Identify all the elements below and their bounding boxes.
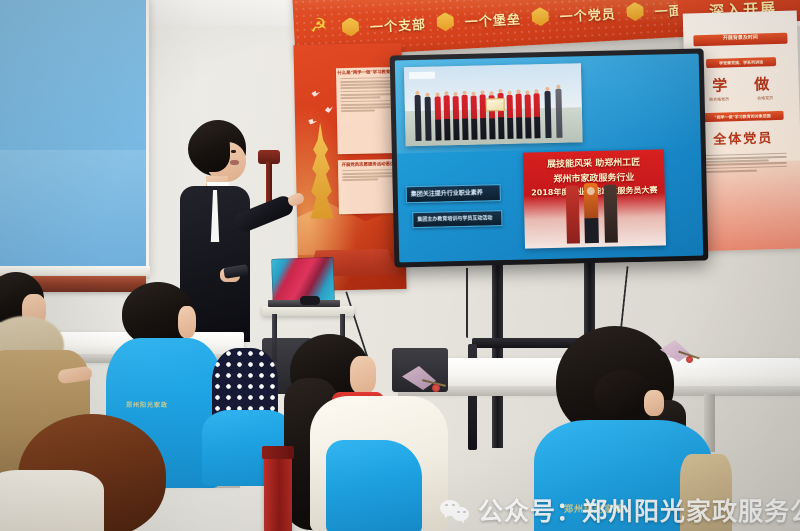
- poster-right-bar-1: 开展背景及时间: [693, 33, 787, 47]
- attendee-face: [350, 356, 376, 394]
- tv-stand-pole-left: [492, 258, 503, 448]
- slide-caption-1: 集团关注提升行业职业素养: [407, 185, 500, 202]
- banner-diamond-icon: [531, 7, 549, 27]
- poster-right-body: [697, 151, 792, 175]
- banner-cell-1: 一个堡垒: [464, 8, 521, 30]
- poster-right-sub-right: 合格党员: [745, 95, 785, 102]
- rose-bud: [432, 384, 440, 392]
- watermark-text: 公众号：郑州阳光家政服务公司: [478, 492, 800, 528]
- poster-right-big-right: 做: [750, 73, 773, 95]
- speaker-eye: [231, 150, 236, 153]
- attendee-red-hair-coat: [0, 470, 104, 531]
- competition-stage-photo: 展技能风采 助郑州工匠 郑州市家政服务行业 2018年度职业技能家政服务员大赛: [523, 149, 666, 248]
- award-plaque: [486, 98, 505, 111]
- rose-bud: [686, 356, 693, 363]
- banner-cell-0: 一个支部: [369, 13, 426, 35]
- wall-mounted-television[interactable]: 集团关注提升行业职业素养 集团主办教育培训与学员互动活动 展技能风采 助郑州工匠…: [390, 48, 709, 267]
- wechat-icon: [440, 498, 470, 523]
- blue-vest: [326, 440, 422, 531]
- poster-right-big-center: 全体党员: [700, 127, 786, 148]
- tv-screen: 集团关注提升行业职业素养 集团主办教育培训与学员互动活动 展技能风采 助郑州工匠…: [395, 54, 704, 263]
- photo-logo: [409, 72, 435, 80]
- attendee-hair-bun: [594, 370, 652, 418]
- slide-caption-2: 集团主办教育培训与学员互动活动: [413, 211, 501, 227]
- banner-diamond-icon: [626, 2, 644, 22]
- poster-right-sub-left: 做合格党员: [701, 96, 737, 103]
- poster-right-big-left: 学: [708, 74, 731, 96]
- poster-right-bar-2: "两学一做"学习教育的对象范围: [701, 111, 783, 122]
- banner-cell-2: 一个党员: [559, 3, 616, 25]
- poster-text-card-top: 什么是"两学一做"学习教育？: [336, 67, 398, 154]
- rose-wrapper: [402, 366, 436, 390]
- thermos-cap[interactable]: [262, 446, 294, 459]
- speaker-hair-front: [188, 126, 230, 172]
- laptop-mouse[interactable]: [300, 296, 320, 305]
- wrapped-rose[interactable]: [402, 366, 448, 398]
- stage-banner-line-1: 展技能风采 助郑州工匠: [523, 154, 664, 170]
- poster-right-tag-1: 学党章党规、学系列讲话: [706, 57, 776, 68]
- wechat-watermark: 公众号：郑州阳光家政服务公司: [440, 492, 800, 528]
- banner-diamond-icon: [436, 12, 454, 32]
- banner-diamond-icon: [341, 17, 359, 37]
- blue-wall-board-lower: [0, 150, 146, 270]
- vest-logo-text: 郑州阳光家政: [126, 400, 168, 409]
- poster-left-section-heading: 开展党员志愿服务活动倡议: [338, 159, 398, 168]
- wrapped-rose[interactable]: [660, 340, 700, 366]
- attendee-ear: [644, 390, 664, 416]
- red-thermos[interactable]: [264, 450, 292, 531]
- screenshot-root: ☭ 一个支部 一个堡垒 一个党员 一面旗帜 什么是"两学一做"学习教育？: [0, 0, 800, 531]
- slide-caption-box-2: 集团主办教育培训与学员互动活动: [412, 210, 502, 228]
- slide-caption-box-1: 集团关注提升行业职业素养: [406, 184, 501, 203]
- poster-left-heading: 什么是"两学一做"学习教育？: [336, 67, 396, 76]
- tv-cable-left: [466, 268, 468, 338]
- attendee-long-hair-cream: [286, 330, 456, 531]
- speaker-mouth: [230, 160, 239, 165]
- poster-text-card-bottom: 开展党员志愿服务活动倡议: [338, 159, 399, 214]
- dove-icon: [311, 91, 320, 97]
- hammer-and-sickle-icon: ☭: [309, 16, 332, 37]
- award-group-photo: [404, 63, 583, 146]
- attendee-ear: [178, 306, 196, 338]
